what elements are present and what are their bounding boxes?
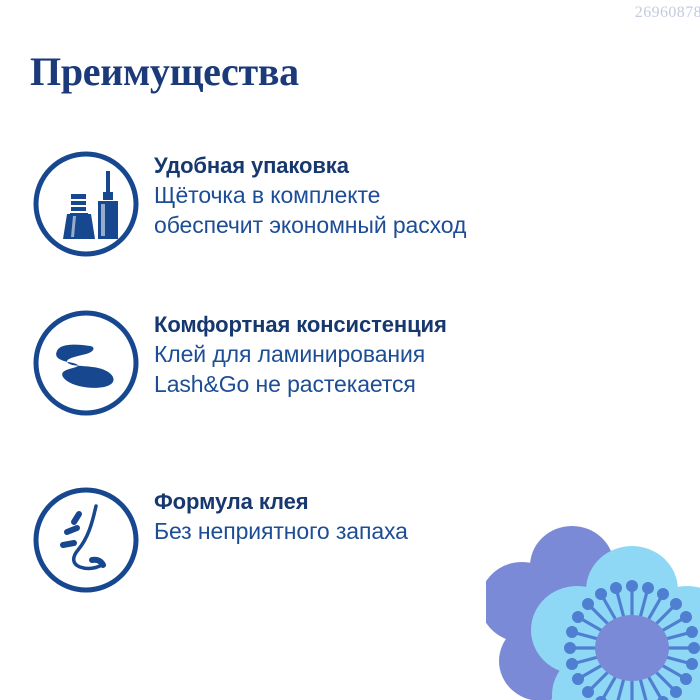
feature-line: Клей для ламинирования [154,339,447,369]
watermark-id: 26960878 [635,4,700,22]
feature-line: Щёточка в комплекте [154,180,466,210]
nose-smell-icon [30,484,142,596]
feature-text-block: Комфортная консистенция Клей для ламинир… [154,307,447,399]
feature-item-consistency: Комфортная консистенция Клей для ламинир… [30,307,447,419]
flower-decoration [486,526,700,700]
feature-item-packaging: Удобная упаковка Щёточка в комплекте обе… [30,148,466,260]
page-title: Преимущества [30,50,299,94]
feature-heading: Удобная упаковка [154,152,466,180]
feature-line: Lash&Go не растекается [154,369,447,399]
feature-heading: Формула клея [154,488,408,516]
bottle-and-brush-icon [30,148,142,260]
feature-line: обеспечит экономный расход [154,210,466,240]
feature-heading: Комфортная консистенция [154,311,447,339]
poster-canvas: 26960878 Преимущества Удобная упаковка Щ… [0,0,700,700]
feature-item-formula: Формула клея Без неприятного запаха [30,484,408,596]
feature-text-block: Удобная упаковка Щёточка в комплекте обе… [154,148,466,240]
feature-text-block: Формула клея Без неприятного запаха [154,484,408,546]
feature-line: Без неприятного запаха [154,516,408,546]
gel-drip-icon [30,307,142,419]
